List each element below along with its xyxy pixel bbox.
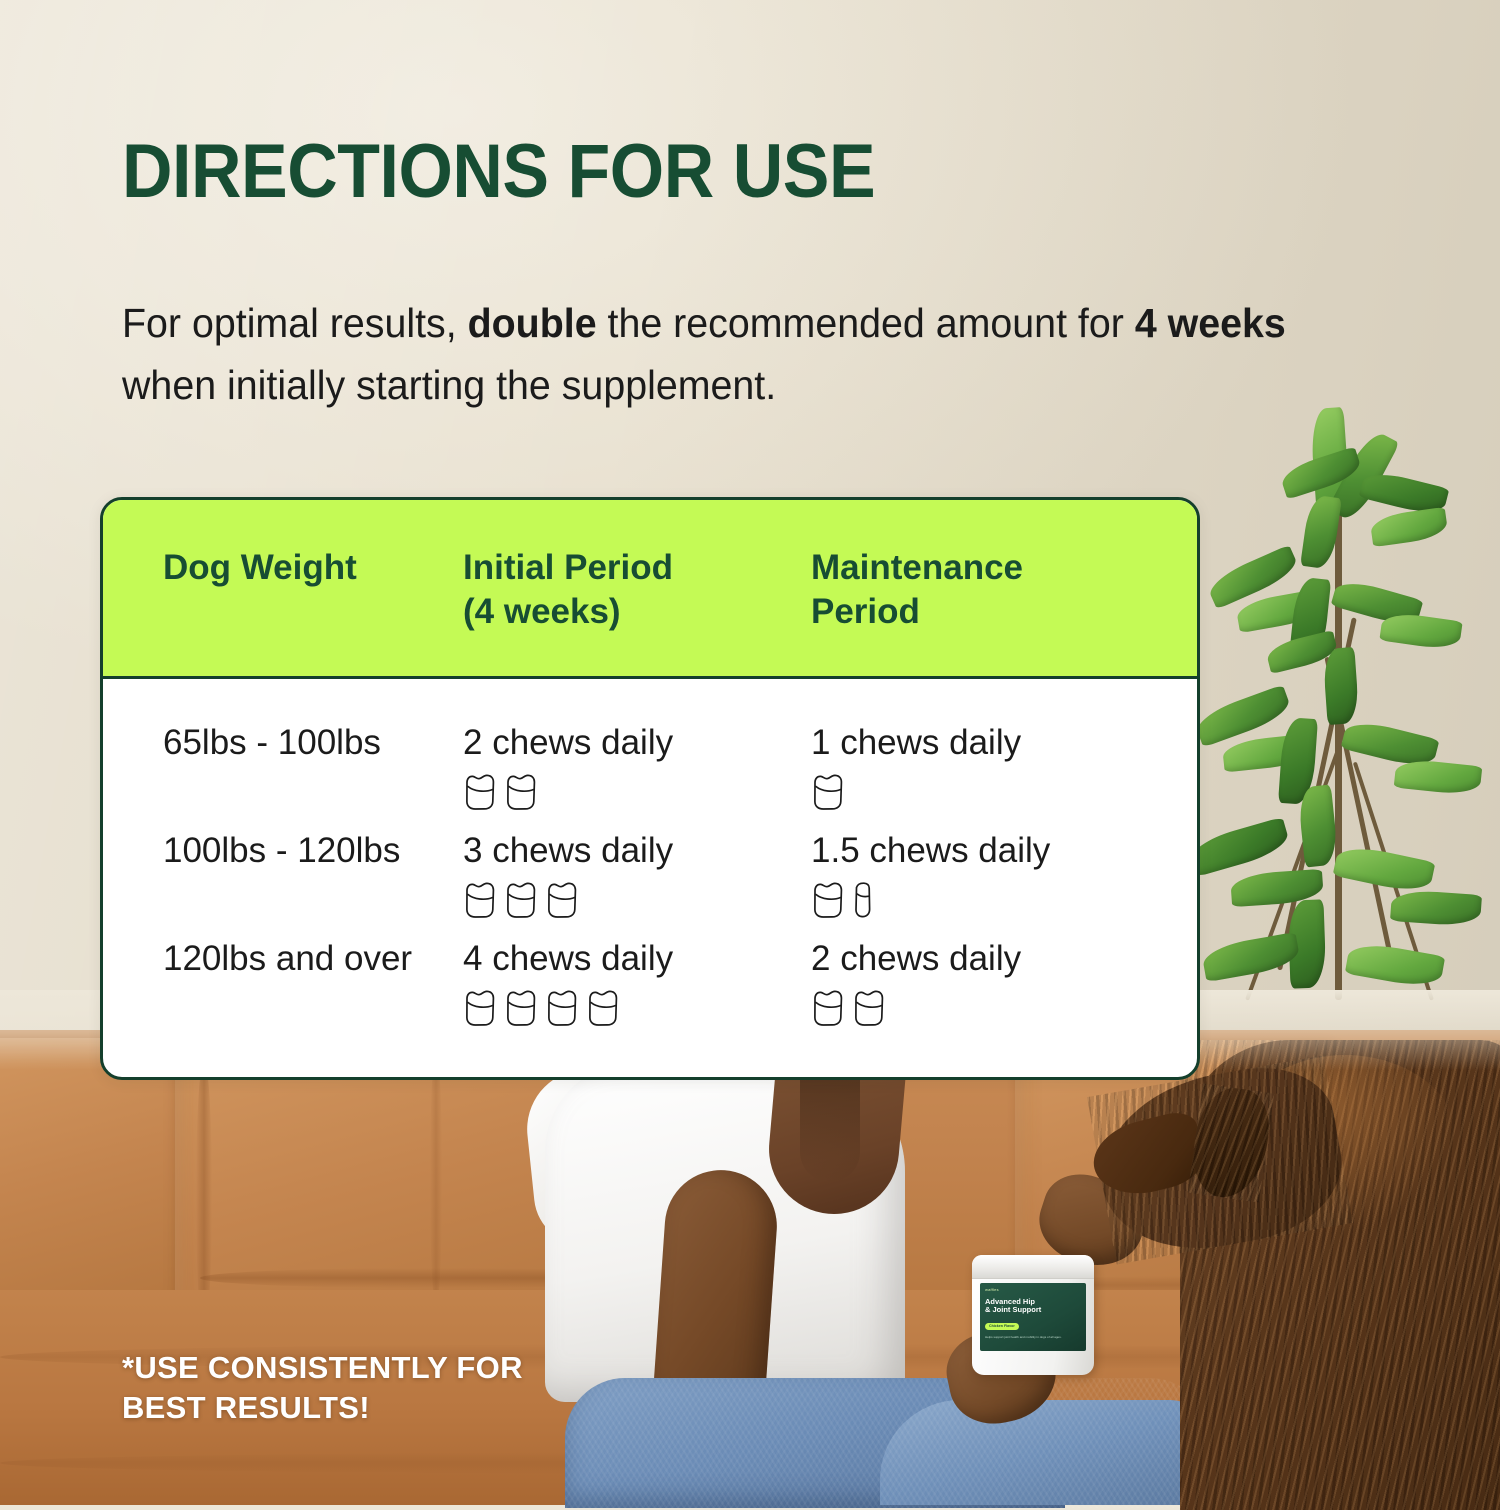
- initial-chew-icons: [463, 988, 811, 1028]
- chew-icon: [811, 988, 845, 1028]
- initial-chew-icons: [463, 772, 811, 812]
- chew-icon: [811, 880, 845, 920]
- cell-maintenance-period: 2 chews daily: [811, 938, 1197, 1028]
- chew-icon: [852, 988, 886, 1028]
- subtitle-text: For optimal results, double the recommen…: [122, 300, 1286, 408]
- table-body: 65lbs - 100lbs2 chews daily1 chews daily…: [103, 679, 1197, 1077]
- cell-dog-weight: 65lbs - 100lbs: [103, 722, 463, 764]
- footnote-line-1: *USE CONSISTENTLY FOR: [122, 1348, 523, 1388]
- maintenance-chew-icons: [811, 772, 1197, 812]
- column-header-initial-period: Initial Period (4 weeks): [463, 546, 811, 634]
- chew-icon: [811, 772, 845, 812]
- maintenance-chew-icons: [811, 988, 1197, 1028]
- chew-icon: [545, 880, 579, 920]
- cell-initial-period: 3 chews daily: [463, 830, 811, 920]
- chew-icon: [463, 772, 497, 812]
- maintenance-chew-icons: [811, 880, 1197, 920]
- chew-icon: [463, 880, 497, 920]
- table-row: 65lbs - 100lbs2 chews daily1 chews daily: [103, 713, 1197, 821]
- table-row: 120lbs and over4 chews daily2 chews dail…: [103, 929, 1197, 1037]
- dosage-table-card: Dog Weight Initial Period (4 weeks) Main…: [100, 497, 1200, 1080]
- chew-icon: [545, 988, 579, 1028]
- cell-maintenance-period: 1.5 chews daily: [811, 830, 1197, 920]
- cell-initial-period: 2 chews daily: [463, 722, 811, 812]
- chew-icon: [504, 772, 538, 812]
- footnote-line-2: BEST RESULTS!: [122, 1388, 523, 1428]
- page-subtitle: For optimal results, double the recommen…: [122, 292, 1341, 417]
- cell-dog-weight: 100lbs - 120lbs: [103, 830, 463, 872]
- cell-maintenance-period: 1 chews daily: [811, 722, 1197, 812]
- initial-chew-icons: [463, 880, 811, 920]
- cell-initial-period: 4 chews daily: [463, 938, 811, 1028]
- column-header-dog-weight: Dog Weight: [103, 546, 463, 634]
- table-row: 100lbs - 120lbs3 chews daily1.5 chews da…: [103, 821, 1197, 929]
- cell-dog-weight: 120lbs and over: [103, 938, 463, 980]
- table-header-row: Dog Weight Initial Period (4 weeks) Main…: [103, 500, 1197, 679]
- chew-icon: [504, 880, 538, 920]
- column-header-maintenance-period: Maintenance Period: [811, 546, 1197, 634]
- chew-icon: [463, 988, 497, 1028]
- chew-icon: [586, 988, 620, 1028]
- half-chew-icon: [852, 880, 872, 920]
- page-title: DIRECTIONS FOR USE: [122, 128, 875, 215]
- chew-icon: [504, 988, 538, 1028]
- footnote: *USE CONSISTENTLY FOR BEST RESULTS!: [122, 1348, 523, 1427]
